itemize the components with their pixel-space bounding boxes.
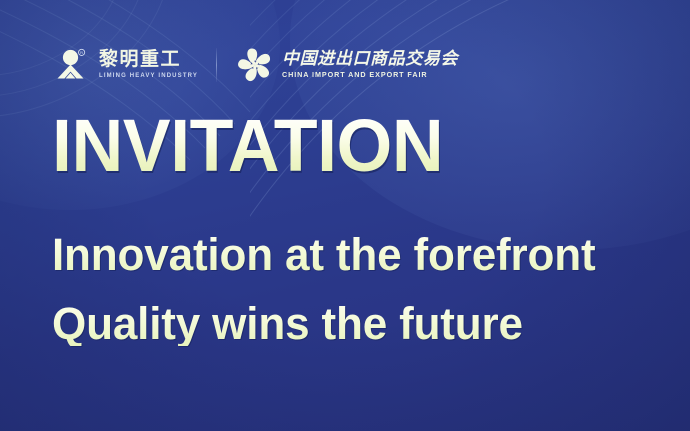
company-logo-text: 黎明重工 LIMING HEAVY INDUSTRY bbox=[99, 50, 198, 80]
fair-name-en: CHINA IMPORT AND EXPORT FAIR bbox=[282, 71, 458, 79]
subtitle-line-2: Quality wins the future bbox=[52, 301, 646, 346]
invitation-poster: R 黎明重工 LIMING HEAVY INDUSTRY bbox=[0, 0, 690, 431]
company-logo: R 黎明重工 LIMING HEAVY INDUSTRY bbox=[52, 42, 198, 88]
fair-logo-text: 中国进出口商品交易会 CHINA IMPORT AND EXPORT FAIR bbox=[282, 51, 458, 80]
fair-logo: 中国进出口商品交易会 CHINA IMPORT AND EXPORT FAIR bbox=[235, 42, 458, 88]
fair-name-cn: 中国进出口商品交易会 bbox=[282, 51, 458, 69]
headline-block: INVITATION Innovation at the forefront Q… bbox=[52, 112, 658, 346]
subtitle-line-1: Innovation at the forefront bbox=[52, 232, 646, 277]
svg-text:R: R bbox=[80, 50, 83, 55]
liming-logo-mark: R bbox=[52, 45, 92, 85]
logo-divider bbox=[216, 48, 217, 82]
canton-fair-kapok-flower-icon bbox=[235, 45, 275, 85]
company-name-cn: 黎明重工 bbox=[99, 50, 198, 70]
poster-header: R 黎明重工 LIMING HEAVY INDUSTRY bbox=[52, 42, 458, 88]
company-name-en: LIMING HEAVY INDUSTRY bbox=[99, 73, 198, 80]
page-title: INVITATION bbox=[52, 112, 640, 180]
